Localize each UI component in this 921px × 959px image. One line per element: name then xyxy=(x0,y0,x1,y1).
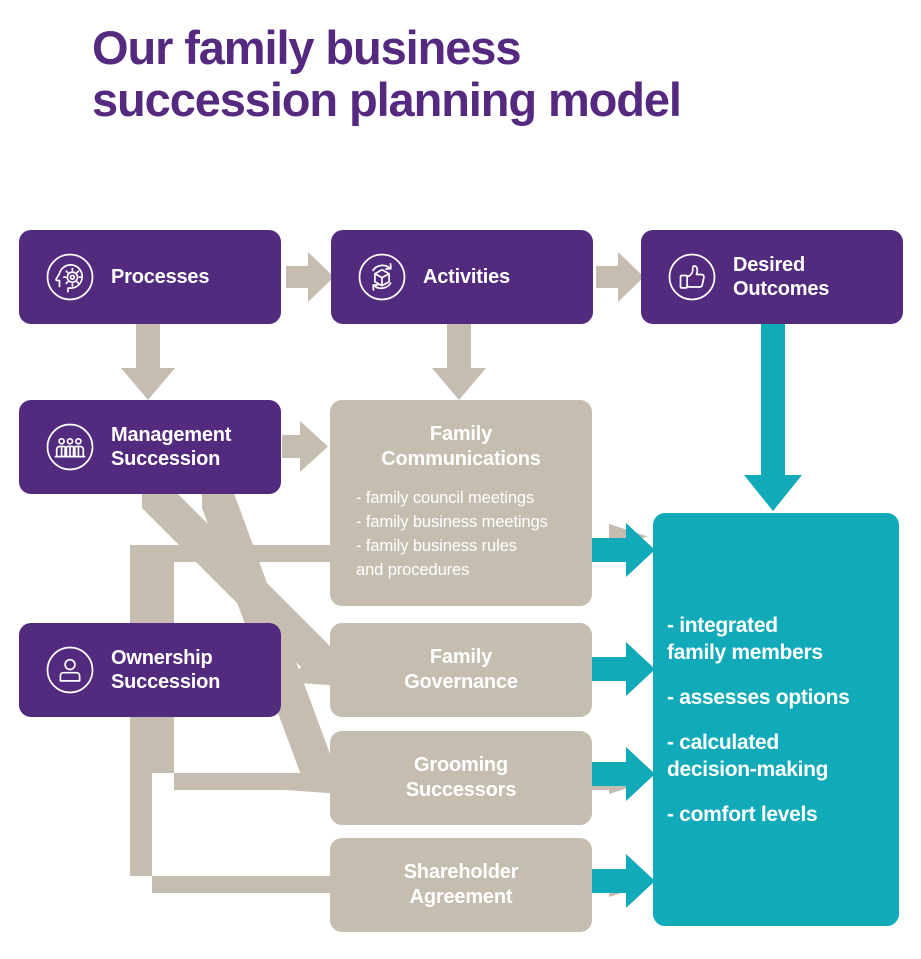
connector-grooming-successors-to-outcomes-panel xyxy=(592,747,655,801)
connector-processes-to-management-succession xyxy=(121,320,175,400)
box-grooming-successors[interactable]: Grooming Successors xyxy=(330,731,592,825)
outcome-item: - assesses options xyxy=(667,684,887,711)
head-gear-icon xyxy=(41,248,99,306)
box-grooming-successors-title: Grooming Successors xyxy=(344,753,578,803)
box-family-communications-bullets: - family council meetings - family busin… xyxy=(344,486,578,582)
box-management-succession[interactable]: Management Succession xyxy=(19,400,281,494)
page-title: Our family business succession planning … xyxy=(92,22,872,126)
connector-desired-outcomes-to-outcomes-panel xyxy=(744,320,802,511)
connector-activities-to-desired-outcomes xyxy=(596,252,644,302)
title-line-1: Our family business xyxy=(92,22,872,74)
box-activities-label: Activities xyxy=(423,265,510,289)
outcome-item: - comfort levels xyxy=(667,801,887,828)
box-desired-outcomes-label: Desired Outcomes xyxy=(733,253,829,301)
box-family-governance[interactable]: Family Governance xyxy=(330,623,592,717)
box-processes[interactable]: Processes xyxy=(19,230,281,324)
connector-management-succession-to-family-communications xyxy=(282,421,328,472)
outcome-item: - integrated family members xyxy=(667,612,887,666)
title-line-2: succession planning model xyxy=(92,74,872,126)
connector-family-governance-to-outcomes-panel xyxy=(592,642,655,696)
box-family-communications-title: Family Communications xyxy=(344,422,578,472)
box-management-succession-label: Management Succession xyxy=(111,423,231,471)
box-shareholder-agreement[interactable]: Shareholder Agreement xyxy=(330,838,592,932)
single-person-icon xyxy=(41,641,99,699)
bullet-item: - family business meetings xyxy=(356,510,578,534)
connector-activities-to-family-communications xyxy=(432,320,486,400)
cube-refresh-icon xyxy=(353,248,411,306)
outcomes-panel[interactable]: - integrated family members - assesses o… xyxy=(653,513,899,926)
box-desired-outcomes[interactable]: Desired Outcomes xyxy=(641,230,903,324)
box-family-communications[interactable]: Family Communications - family council m… xyxy=(330,400,592,606)
box-ownership-succession[interactable]: Ownership Succession xyxy=(19,623,281,717)
thumbs-up-icon xyxy=(663,248,721,306)
connector-processes-to-activities xyxy=(286,252,334,302)
bullet-item: - family council meetings xyxy=(356,486,578,510)
group-people-icon xyxy=(41,418,99,476)
connector-shareholder-agreement-to-outcomes-panel xyxy=(592,854,655,908)
outcome-item: - calculated decision-making xyxy=(667,729,887,783)
box-family-governance-title: Family Governance xyxy=(344,645,578,695)
box-shareholder-agreement-title: Shareholder Agreement xyxy=(344,860,578,910)
box-ownership-succession-label: Ownership Succession xyxy=(111,646,220,694)
bullet-item: - family business rules and procedures xyxy=(356,534,578,582)
box-processes-label: Processes xyxy=(111,265,209,289)
box-activities[interactable]: Activities xyxy=(331,230,593,324)
